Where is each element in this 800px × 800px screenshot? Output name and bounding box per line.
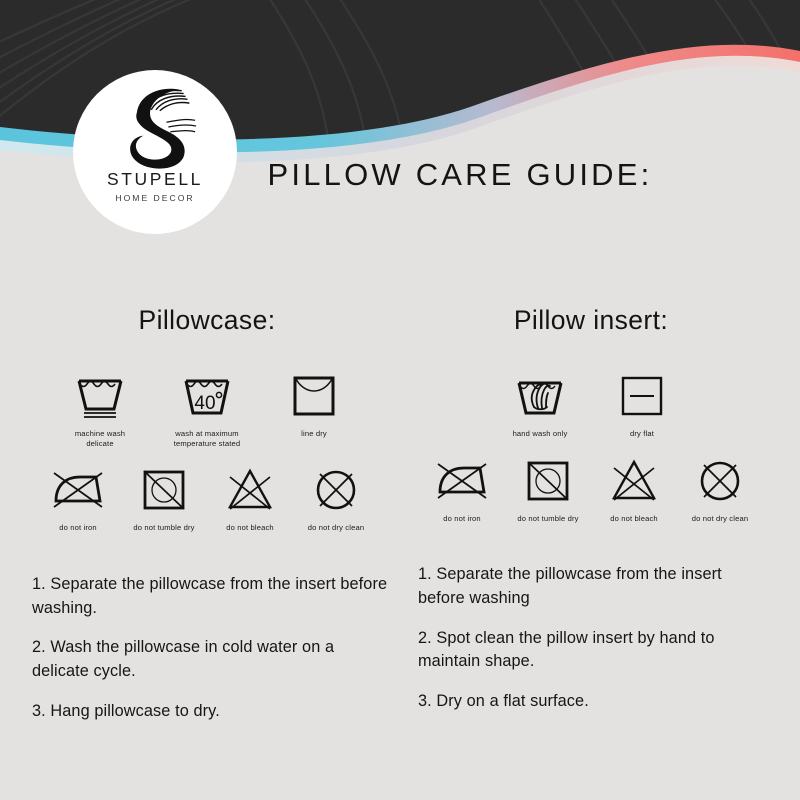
instruction-step: 1. Separate the pillowcase from the inse… xyxy=(418,563,772,610)
symbol-caption: do not bleach xyxy=(610,514,658,524)
do-not-dry-clean-icon xyxy=(312,464,360,516)
symbol-do-not-bleach: do not bleach xyxy=(213,464,287,533)
section-heading-pillowcase: Pillowcase: xyxy=(22,305,392,336)
symbol-machine-wash-delicate: machine wash delicate xyxy=(63,370,137,448)
symbol-do-not-dry-clean: do not dry clean xyxy=(299,464,373,533)
instruction-step: 2. Spot clean the pillow insert by hand … xyxy=(418,627,772,674)
do-not-bleach-icon xyxy=(608,455,660,507)
symbol-do-not-tumble-dry: do not tumble dry xyxy=(127,464,201,533)
symbol-caption: dry flat xyxy=(630,429,654,439)
symbol-caption: machine wash delicate xyxy=(63,429,137,448)
instruction-step: 3. Dry on a flat surface. xyxy=(418,690,772,713)
brand-logo-badge: STUPELL HOME DECOR xyxy=(73,70,237,234)
svg-text:40: 40 xyxy=(194,393,215,414)
section-pillow-insert: Pillow insert: xyxy=(406,305,776,727)
section-pillowcase: Pillowcase: machine wash delicate xyxy=(22,305,392,737)
symbol-caption: do not dry clean xyxy=(308,523,364,533)
symbol-do-not-dry-clean: do not dry clean xyxy=(683,455,757,524)
do-not-bleach-icon xyxy=(224,464,276,516)
insert-symbol-row-1: hand wash only dry flat xyxy=(406,370,776,439)
stupell-swoosh-logo-icon xyxy=(107,84,203,170)
do-not-iron-icon xyxy=(434,455,490,507)
machine-wash-delicate-icon xyxy=(74,370,126,422)
pillowcase-symbol-row-2: do not iron do not tumble dry xyxy=(22,464,392,533)
symbol-hand-wash-only: hand wash only xyxy=(503,370,577,439)
symbol-caption: hand wash only xyxy=(513,429,568,439)
pillowcase-symbol-row-1: machine wash delicate 40 wash at maximum… xyxy=(22,370,392,448)
do-not-tumble-dry-icon xyxy=(140,464,188,516)
pillowcase-instructions: 1. Separate the pillowcase from the inse… xyxy=(22,573,392,723)
symbol-caption: wash at maximum temperature stated xyxy=(165,429,249,448)
brand-tagline: HOME DECOR xyxy=(115,194,194,203)
symbol-line-dry: line dry xyxy=(277,370,351,439)
symbol-caption: do not bleach xyxy=(226,523,274,533)
brand-name: STUPELL xyxy=(107,171,203,189)
pillow-care-guide-page: STUPELL HOME DECOR PILLOW CARE GUIDE: Pi… xyxy=(0,0,800,800)
symbol-wash-max-temperature: 40 wash at maximum temperature stated xyxy=(165,370,249,448)
symbol-do-not-bleach: do not bleach xyxy=(597,455,671,524)
symbol-caption: do not tumble dry xyxy=(517,514,578,524)
line-dry-icon xyxy=(291,370,337,422)
symbol-caption: do not dry clean xyxy=(692,514,748,524)
symbol-caption: line dry xyxy=(301,429,327,439)
section-heading-pillow-insert: Pillow insert: xyxy=(406,305,776,336)
symbol-caption: do not iron xyxy=(443,514,481,524)
hand-wash-only-icon xyxy=(514,370,566,422)
insert-instructions: 1. Separate the pillowcase from the inse… xyxy=(406,563,776,713)
instruction-step: 1. Separate the pillowcase from the inse… xyxy=(32,573,388,620)
symbol-caption: do not tumble dry xyxy=(133,523,194,533)
instruction-step: 2. Wash the pillowcase in cold water on … xyxy=(32,636,388,683)
symbol-do-not-iron: do not iron xyxy=(425,455,499,524)
symbol-do-not-tumble-dry: do not tumble dry xyxy=(511,455,585,524)
do-not-dry-clean-icon xyxy=(696,455,744,507)
symbol-caption: do not iron xyxy=(59,523,97,533)
do-not-tumble-dry-icon xyxy=(524,455,572,507)
do-not-iron-icon xyxy=(50,464,106,516)
wash-max-temperature-40-icon: 40 xyxy=(181,370,233,422)
instruction-step: 3. Hang pillowcase to dry. xyxy=(32,700,388,723)
symbol-do-not-iron: do not iron xyxy=(41,464,115,533)
insert-symbol-row-2: do not iron do not tumble dry xyxy=(406,455,776,524)
symbol-dry-flat: dry flat xyxy=(605,370,679,439)
dry-flat-icon xyxy=(619,370,665,422)
